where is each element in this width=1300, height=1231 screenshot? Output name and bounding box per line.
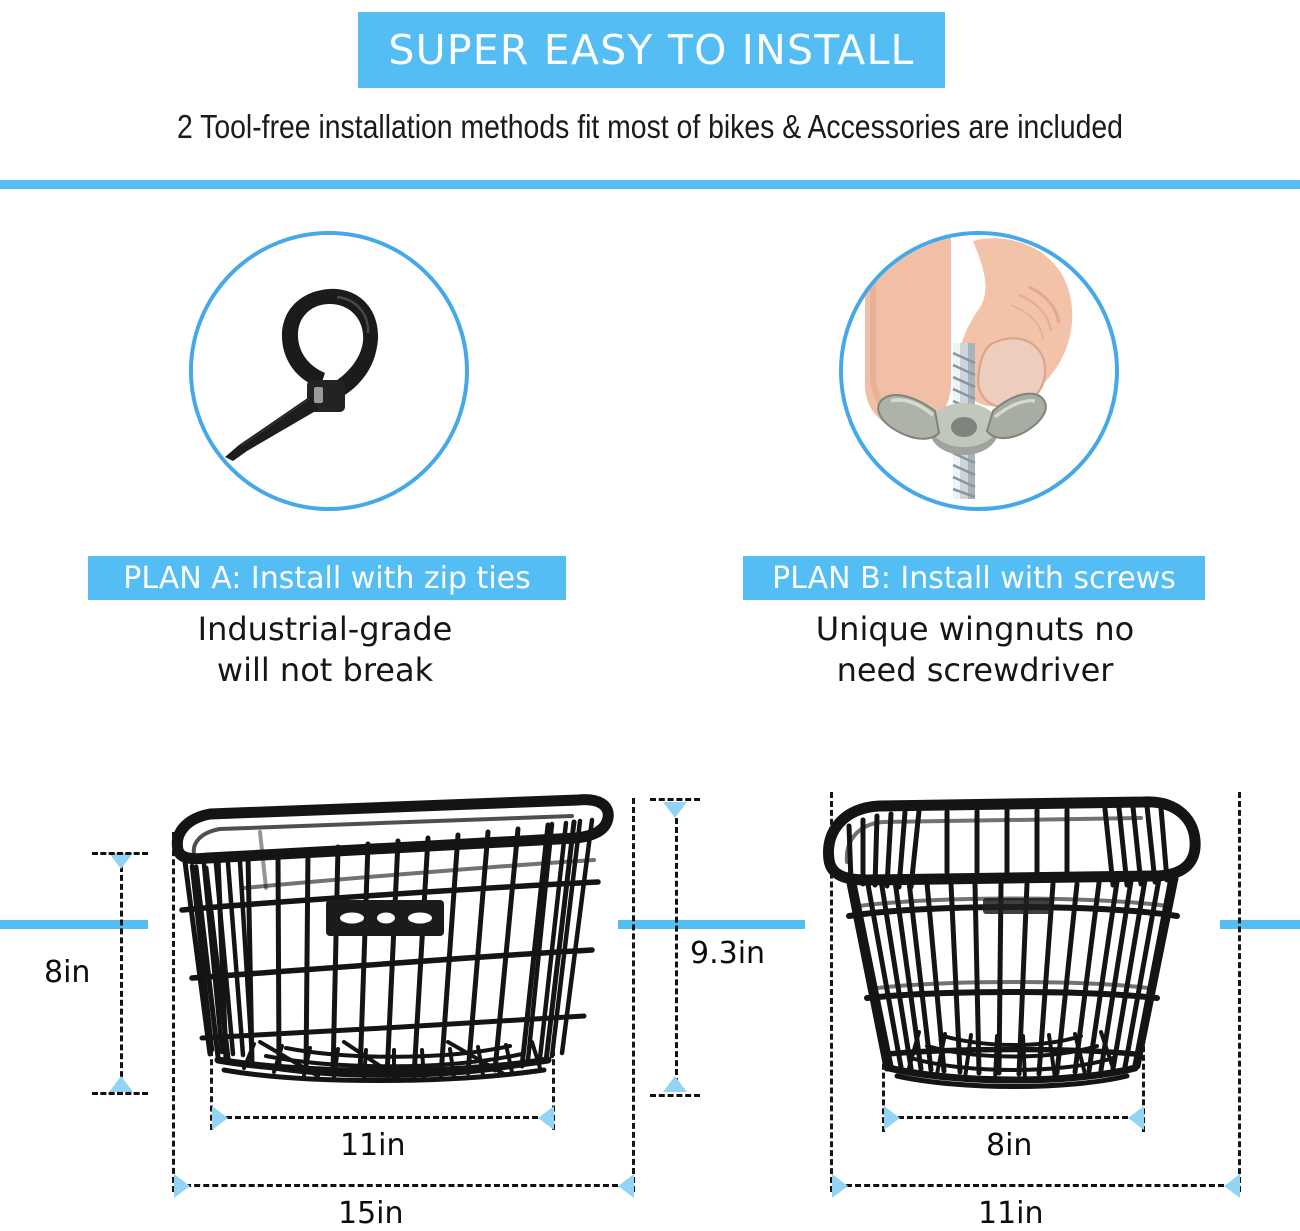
plan-b-label: PLAN B: Install with screws: [743, 556, 1205, 600]
plan-b-photo-circle: [839, 231, 1119, 511]
wire-basket-front-photo: [805, 786, 1220, 1096]
dimensions-section: 8in 11in 15in 9.3in: [0, 740, 1300, 1230]
plan-b-desc-line1: Unique wingnuts no: [816, 610, 1135, 648]
left-basket-block: 8in 11in 15in 9.3in: [0, 740, 660, 1230]
page-title: SUPER EASY TO INSTALL: [388, 26, 914, 74]
right-inner-width-dim-line: [898, 1116, 1128, 1119]
plan-b-label-text: PLAN B: Install with screws: [772, 561, 1176, 596]
plan-a-desc-line1: Industrial-grade: [198, 610, 453, 648]
right-guide-right-outer: [1238, 792, 1241, 1192]
plan-b-column: PLAN B: Install with screws Unique wingn…: [650, 189, 1300, 731]
inner-width-arrow-right-icon: [538, 1106, 554, 1130]
right-outer-width-dim-line: [846, 1184, 1224, 1187]
plan-b-desc-line2: need screwdriver: [650, 650, 1300, 691]
left-basket-photo-wrap: [148, 792, 618, 1092]
hand-tightening-wingnut-photo: [843, 235, 1107, 499]
header-section: SUPER EASY TO INSTALL 2 Tool-free instal…: [0, 0, 1300, 186]
inner-width-arrow-left-icon: [212, 1106, 228, 1130]
divider-top: [0, 180, 1300, 189]
outer-width-arrow-left-icon: [174, 1174, 190, 1198]
left-basket-inner-width-label: 11in: [340, 1128, 406, 1163]
mounting-bracket-plate: [326, 900, 444, 936]
zip-tie-photo: [193, 235, 457, 499]
height-arrow-up-icon: [109, 1076, 133, 1092]
right-inner-width-arrow-left-icon: [884, 1106, 900, 1130]
right-basket-photo-wrap: [805, 786, 1220, 1096]
guide-left-outer: [172, 832, 175, 1192]
plan-a-description: Industrial-grade will not break: [0, 609, 650, 691]
right-basket-outer-width-label: 11in: [978, 1196, 1044, 1231]
plan-b-description: Unique wingnuts no need screwdriver: [650, 609, 1300, 691]
height-dim-line: [120, 866, 123, 1086]
height-tick-top: [92, 852, 148, 855]
right-outer-width-arrow-left-icon: [832, 1174, 848, 1198]
header-subtitle: 2 Tool-free installation methods fit mos…: [91, 108, 1209, 146]
right-inner-width-arrow-right-icon: [1128, 1106, 1144, 1130]
guide-right-outer: [632, 798, 635, 1192]
wire-basket-angled-photo: [148, 792, 618, 1092]
right-guide-left-outer: [830, 792, 833, 1192]
right-basket-block: 8in 11in: [660, 740, 1300, 1230]
right-basket-inner-width-label: 8in: [986, 1128, 1032, 1163]
plan-a-column: PLAN A: Install with zip ties Industrial…: [0, 189, 650, 731]
left-basket-outer-width-label: 15in: [338, 1196, 404, 1231]
outer-width-arrow-right-icon: [618, 1174, 634, 1198]
height-arrow-down-icon: [109, 853, 133, 869]
plan-a-desc-line2: will not break: [0, 650, 650, 691]
right-outer-width-arrow-right-icon: [1224, 1174, 1240, 1198]
plans-section: PLAN A: Install with zip ties Industrial…: [0, 189, 1300, 731]
plan-a-photo-circle: [189, 231, 469, 511]
plan-a-label: PLAN A: Install with zip ties: [88, 556, 566, 600]
outer-width-dim-line: [176, 1184, 618, 1187]
title-banner: SUPER EASY TO INSTALL: [358, 12, 945, 88]
height-tick-bottom: [92, 1092, 148, 1095]
inner-width-dim-line: [226, 1116, 538, 1119]
left-basket-height-label: 8in: [44, 955, 90, 990]
plan-a-label-text: PLAN A: Install with zip ties: [123, 561, 531, 596]
